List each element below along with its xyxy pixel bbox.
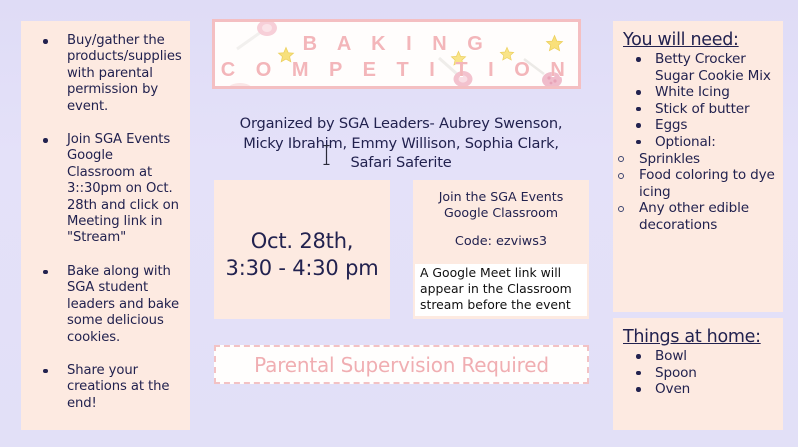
organizers-line-2: Micky Ibrahim, Emmy Willison, Sophia Cla… — [205, 134, 597, 154]
event-time: 3:30 - 4:30 pm — [214, 255, 390, 282]
classroom-code: Code: ezviws3 — [413, 221, 589, 250]
classroom-info-box: Join the SGA Events Google Classroom Cod… — [413, 180, 589, 319]
home-items-list: Bowl Spoon Oven — [613, 348, 783, 398]
title-line-1: B A K I N G — [215, 31, 578, 57]
instructions-list: Buy/gather the products/supplies with pa… — [21, 21, 190, 412]
list-item: Oven — [623, 381, 779, 398]
list-item: Eggs — [623, 117, 779, 134]
home-items-heading: Things at home: — [613, 318, 783, 348]
list-item: Sprinkles — [613, 151, 783, 168]
list-item: Stick of butter — [623, 101, 779, 118]
title-text: B A K I N G C O M P E T I T I O N — [215, 31, 578, 83]
title-banner: B A K I N G C O M P E T I T I O N — [212, 19, 581, 89]
parental-supervision-label: Parental Supervision Required — [254, 353, 549, 377]
parental-supervision-banner: Parental Supervision Required — [214, 345, 589, 384]
list-item: Bake along with SGA student leaders and … — [29, 264, 184, 346]
list-item: Join SGA Events Google Classroom at 3::3… — [29, 132, 184, 247]
slide-canvas: Buy/gather the products/supplies with pa… — [0, 0, 798, 447]
list-item: Bowl — [623, 348, 779, 365]
instructions-panel: Buy/gather the products/supplies with pa… — [21, 21, 190, 430]
list-item: Any other edible decorations — [613, 200, 783, 233]
list-item: Betty Crocker Sugar Cookie Mix — [623, 51, 779, 84]
organizers-text: Organized by SGA Leaders- Aubrey Swenson… — [205, 114, 597, 173]
date-time-text: Oct. 28th, 3:30 - 4:30 pm — [214, 228, 390, 282]
list-item: Share your creations at the end! — [29, 363, 184, 412]
list-item: Buy/gather the products/supplies with pa… — [29, 33, 184, 115]
event-date: Oct. 28th, — [214, 228, 390, 255]
supplies-heading: You will need: — [613, 21, 783, 51]
organizers-line-3: Safari Saferite — [205, 153, 597, 173]
optional-sublist: Sprinkles Food coloring to dye icing Any… — [613, 151, 783, 234]
classroom-heading-line-1: Join the SGA Events — [421, 189, 581, 205]
list-item: Food coloring to dye icing — [613, 167, 783, 200]
list-item: Optional: — [623, 134, 779, 151]
classroom-heading-line-2: Google Classroom — [421, 205, 581, 221]
supplies-list: Betty Crocker Sugar Cookie Mix White Ici… — [613, 51, 783, 151]
list-item: Spoon — [623, 365, 779, 382]
meet-link-note: A Google Meet link will appear in the Cl… — [415, 264, 587, 316]
list-item: White Icing — [623, 84, 779, 101]
organizers-line-1: Organized by SGA Leaders- Aubrey Swenson… — [205, 114, 597, 134]
classroom-heading: Join the SGA Events Google Classroom — [413, 180, 589, 221]
title-line-2: C O M P E T I T I O N — [215, 57, 578, 83]
date-time-box: Oct. 28th, 3:30 - 4:30 pm — [214, 180, 390, 319]
home-items-panel: Things at home: Bowl Spoon Oven — [613, 318, 783, 430]
supplies-panel: You will need: Betty Crocker Sugar Cooki… — [613, 21, 783, 312]
